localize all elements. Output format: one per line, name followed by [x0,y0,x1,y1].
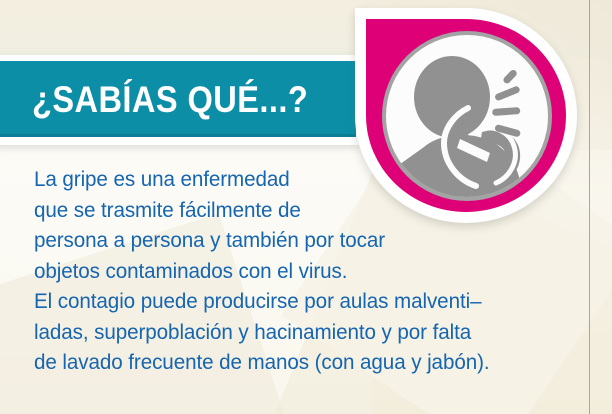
body-line: que se trasmite fácilmente de [34,195,557,226]
body-line: de lavado frecuente de manos (con agua y… [34,347,557,378]
body-line: objetos contaminados con el virus. [34,256,557,287]
body-line: El contagio puede producirse por aulas m… [34,286,557,317]
body-line: persona a persona y también por tocar [34,225,557,256]
body-text: La gripe es una enfermedad que se trasmi… [34,164,579,378]
body-line: ladas, superpoblación y hacinamiento y p… [34,317,557,348]
body-line: La gripe es una enfermedad [34,164,557,195]
heading-banner: ¿SABÍAS QUÉ...? [0,61,356,137]
infographic-poster: ¿SABÍAS QUÉ...? [0,0,612,414]
page-title: ¿SABÍAS QUÉ...? [32,81,308,118]
vertical-rule [589,0,590,414]
